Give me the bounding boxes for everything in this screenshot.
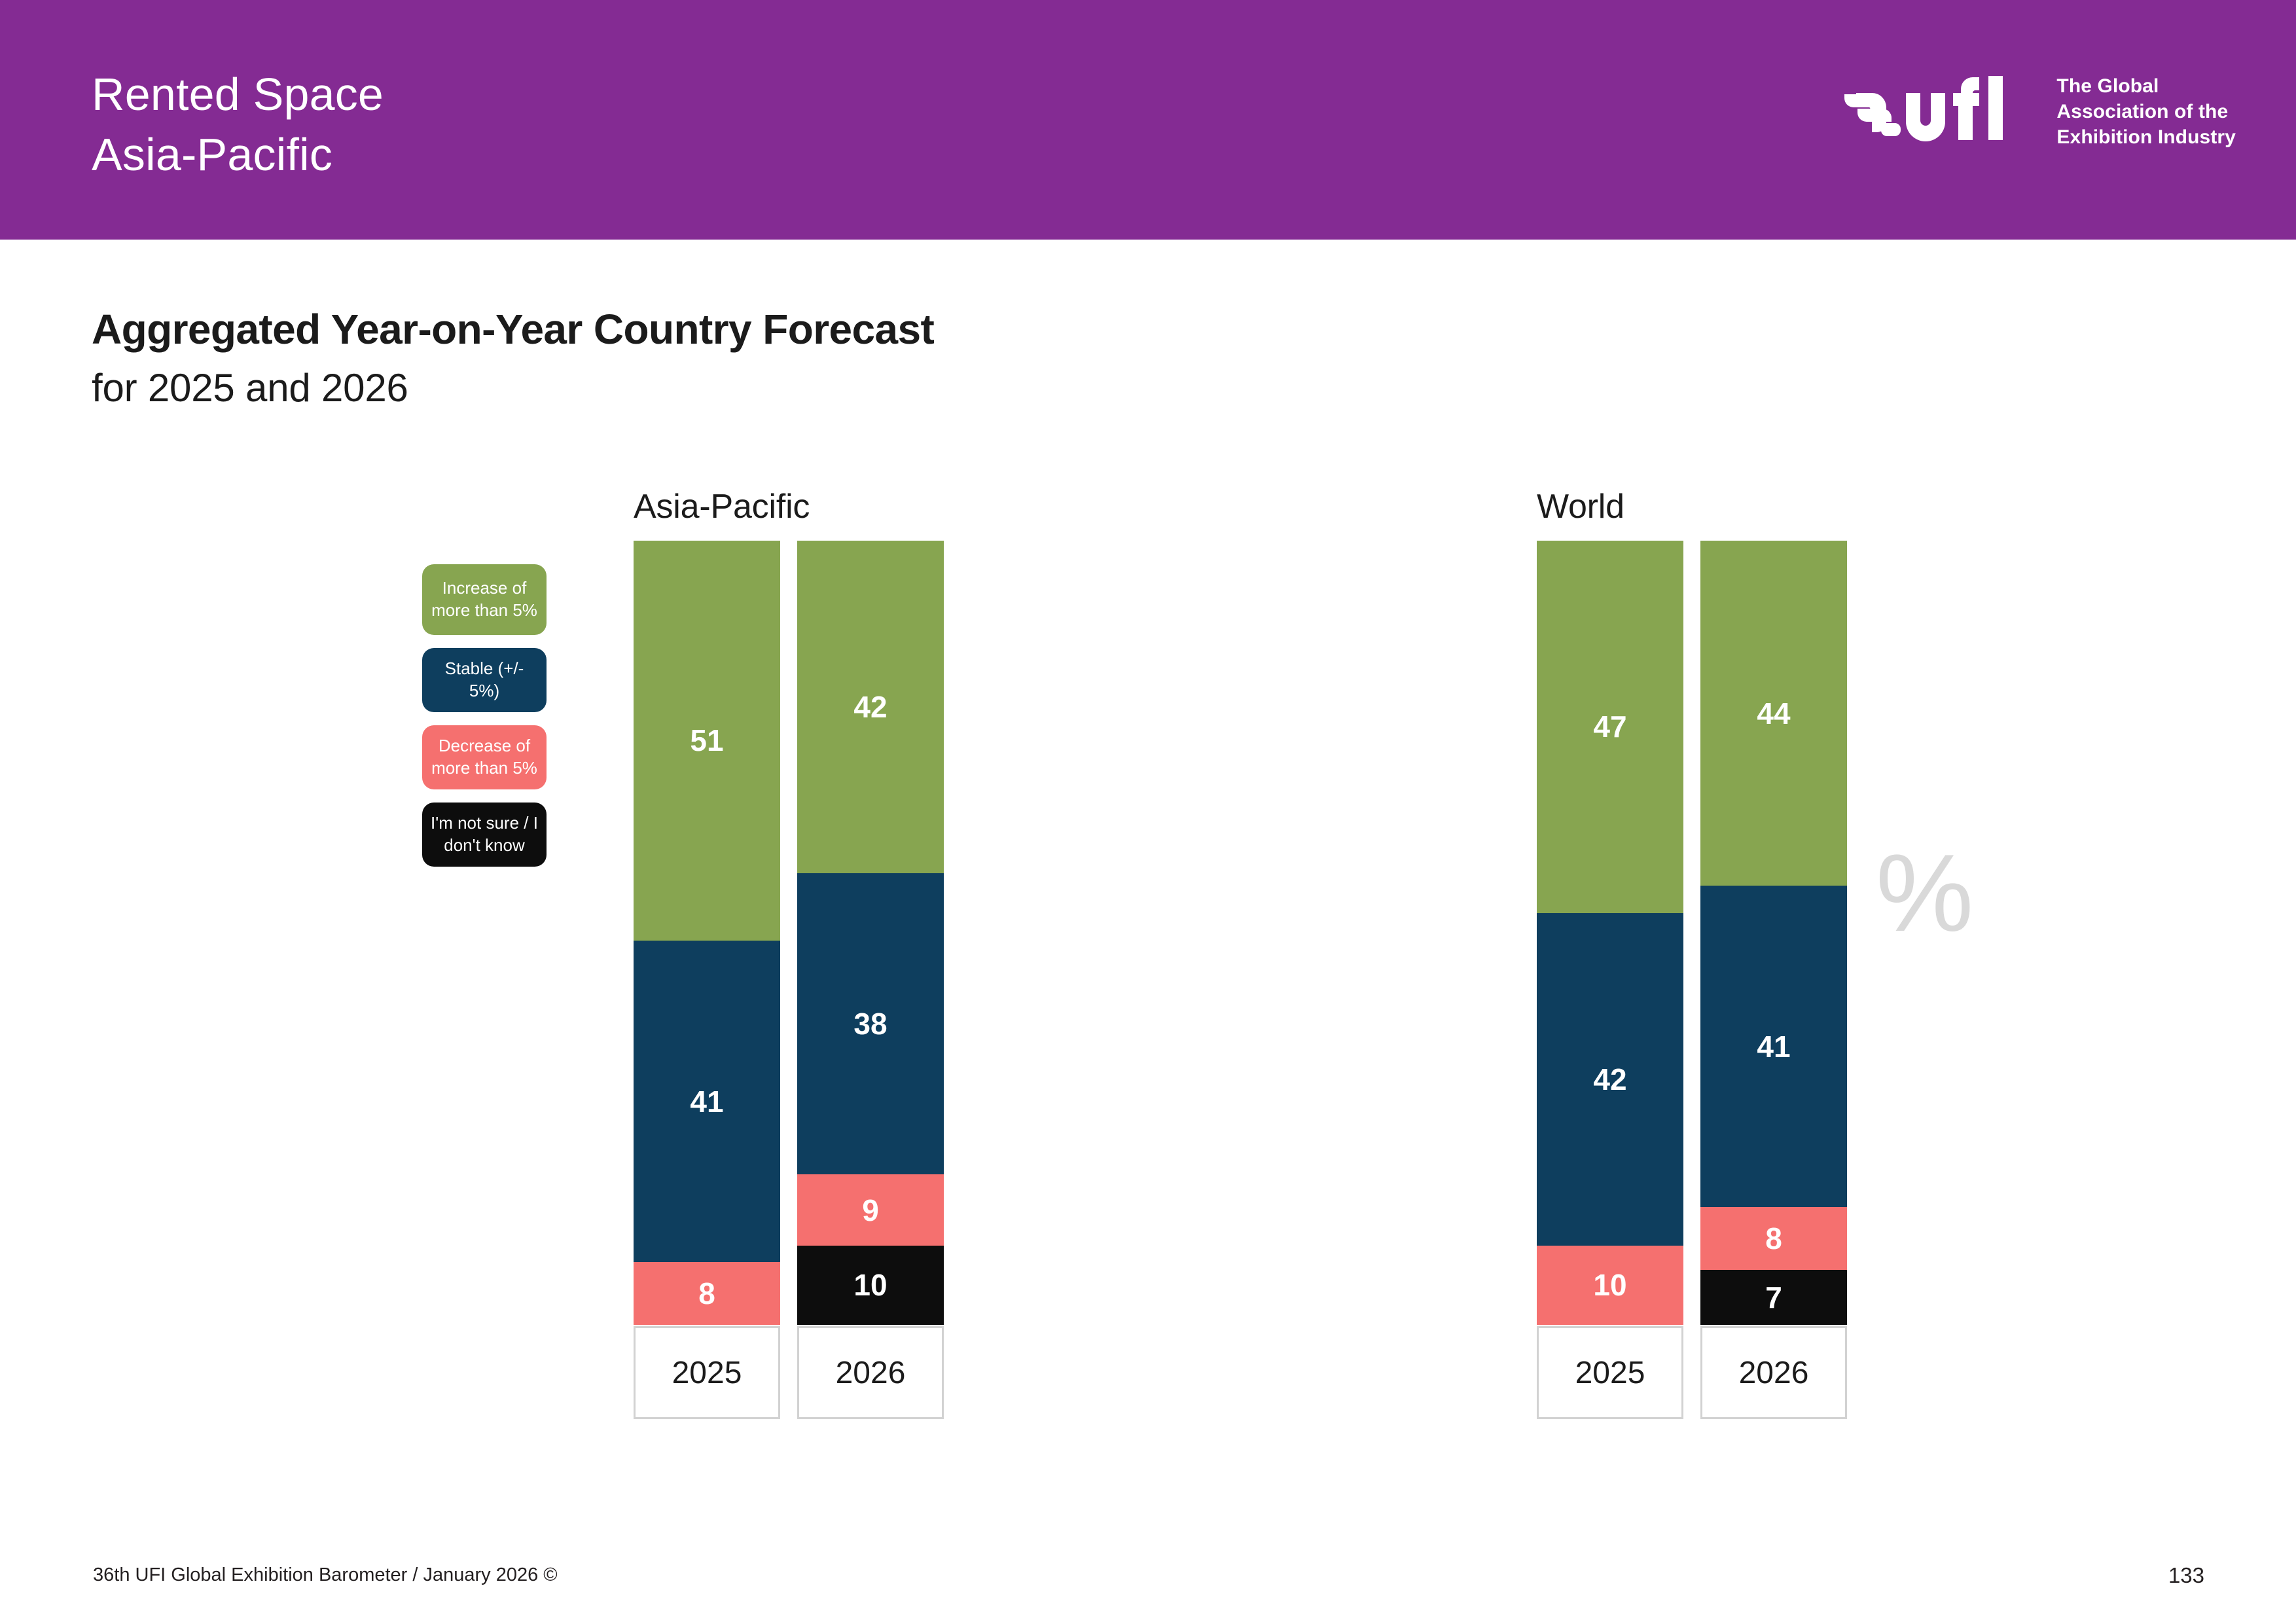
legend-item-unsure: I'm not sure / I don't know — [422, 803, 547, 867]
bars-row: 51418202542389102026 — [634, 541, 944, 1419]
bar-segment: 42 — [1537, 913, 1683, 1246]
year-label-box: 2026 — [797, 1326, 944, 1419]
bar-segment: 42 — [797, 541, 944, 873]
bar-segment-value: 38 — [853, 1006, 887, 1041]
stacked-bar: 474210 — [1537, 541, 1683, 1325]
chart-legend: Increase of more than 5%Stable (+/- 5%)D… — [422, 564, 547, 867]
bar-column: 4441872026 — [1700, 541, 1847, 1419]
stacked-bar: 444187 — [1700, 541, 1847, 1325]
year-label-box: 2025 — [1537, 1326, 1683, 1419]
legend-item-label: Decrease of more than 5% — [427, 735, 541, 780]
slide-root: Rented Space Asia-Pacific — [0, 0, 2296, 1624]
bar-segment-value: 41 — [1757, 1029, 1790, 1064]
footer-source-text: 36th UFI Global Exhibition Barometer / J… — [93, 1564, 558, 1586]
bar-segment: 41 — [634, 941, 780, 1262]
bar-segment: 7 — [1700, 1270, 1847, 1325]
ufi-logo-icon — [1843, 71, 2039, 153]
bar-segment-value: 42 — [1593, 1062, 1626, 1097]
ufi-tagline-line2: Association of the — [2056, 99, 2236, 124]
bar-column: 514182025 — [634, 541, 780, 1419]
ufi-logo: The Global Association of the Exhibition… — [1843, 71, 2236, 153]
legend-item-increase: Increase of more than 5% — [422, 564, 547, 635]
chart-heading: Asia-Pacific — [634, 487, 810, 526]
bar-segment: 10 — [1537, 1246, 1683, 1325]
bar-segment: 8 — [1700, 1207, 1847, 1270]
stacked-bar: 4238910 — [797, 541, 944, 1325]
year-label: 2025 — [672, 1355, 742, 1391]
year-label: 2026 — [836, 1355, 906, 1391]
ufi-tagline-line3: Exhibition Industry — [2056, 124, 2236, 150]
page-number: 133 — [2168, 1563, 2204, 1588]
bar-segment: 47 — [1537, 541, 1683, 913]
percent-symbol: % — [1876, 838, 1973, 948]
year-label-box: 2026 — [1700, 1326, 1847, 1419]
bar-segment: 44 — [1700, 541, 1847, 886]
ufi-tagline-line1: The Global — [2056, 73, 2236, 99]
legend-item-label: I'm not sure / I don't know — [427, 812, 541, 857]
legend-item-decrease: Decrease of more than 5% — [422, 725, 547, 789]
bar-segment-value: 47 — [1593, 709, 1626, 744]
page-title: Aggregated Year-on-Year Country Forecast — [92, 305, 934, 353]
bar-segment: 41 — [1700, 886, 1847, 1207]
bar-segment-value: 10 — [1593, 1267, 1626, 1303]
bar-segment-value: 42 — [853, 689, 887, 725]
ufi-logo-tagline: The Global Association of the Exhibition… — [2056, 73, 2236, 150]
header-title: Rented Space Asia-Pacific — [92, 64, 384, 185]
bars-row: 47421020254441872026 — [1537, 541, 1847, 1419]
bar-segment-value: 44 — [1757, 696, 1790, 731]
legend-item-stable: Stable (+/- 5%) — [422, 648, 547, 712]
bar-segment-value: 9 — [862, 1193, 879, 1228]
bar-segment: 8 — [634, 1262, 780, 1325]
year-label: 2026 — [1739, 1355, 1809, 1391]
chart-heading: World — [1537, 487, 1624, 526]
legend-item-label: Stable (+/- 5%) — [427, 658, 541, 702]
bar-segment: 9 — [797, 1174, 944, 1246]
bar-segment-value: 10 — [853, 1267, 887, 1303]
bar-column: 42389102026 — [797, 541, 944, 1419]
year-label-box: 2025 — [634, 1326, 780, 1419]
bar-segment-value: 8 — [698, 1276, 715, 1311]
header-title-line1: Rented Space — [92, 64, 384, 124]
header-band: Rented Space Asia-Pacific — [0, 0, 2296, 240]
header-title-line2: Asia-Pacific — [92, 124, 384, 185]
bar-segment: 51 — [634, 541, 780, 941]
stacked-bar: 51418 — [634, 541, 780, 1325]
bar-segment-value: 8 — [1765, 1221, 1782, 1256]
bar-segment-value: 41 — [690, 1084, 723, 1119]
page-subtitle: for 2025 and 2026 — [92, 365, 408, 410]
bar-segment: 10 — [797, 1246, 944, 1325]
bar-segment-value: 51 — [690, 723, 723, 758]
bar-column: 4742102025 — [1537, 541, 1683, 1419]
bar-segment-value: 7 — [1765, 1280, 1782, 1315]
bar-segment: 38 — [797, 873, 944, 1174]
legend-item-label: Increase of more than 5% — [427, 577, 541, 622]
year-label: 2025 — [1575, 1355, 1645, 1391]
